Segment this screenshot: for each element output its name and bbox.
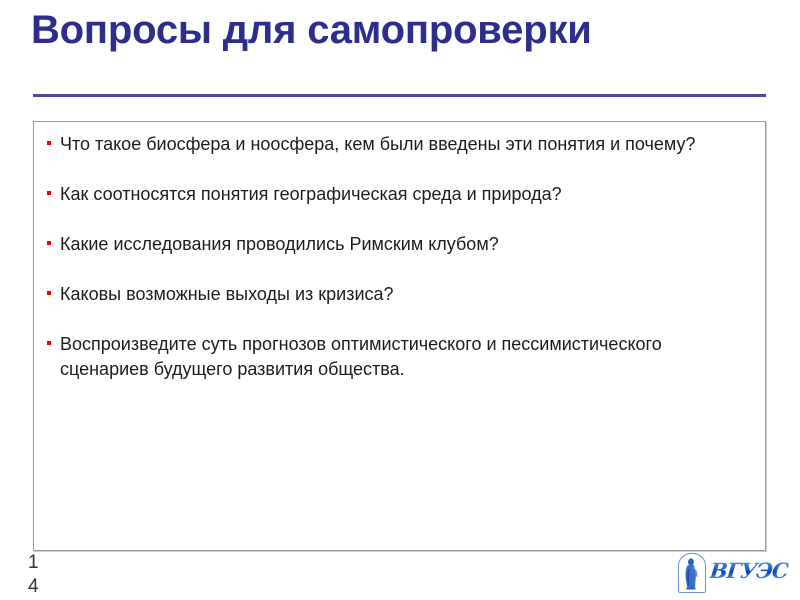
statue-emblem-icon xyxy=(678,553,706,593)
list-item: Воспроизведите суть прогнозов оптимистич… xyxy=(38,332,753,382)
page-number: 14 xyxy=(28,551,42,599)
list-item-label: Воспроизведите суть прогнозов оптимистич… xyxy=(60,332,753,382)
list-item: Каковы возможные выходы из кризиса? xyxy=(38,282,753,307)
slide: Вопросы для самопроверки Что такое биосф… xyxy=(0,0,800,600)
list-item-label: Какие исследования проводились Римским к… xyxy=(60,232,753,257)
vvsu-logo: ВГУЭС xyxy=(678,552,774,592)
title-divider xyxy=(33,94,766,97)
bullet-square-icon xyxy=(47,291,51,295)
bullet-square-icon xyxy=(47,241,51,245)
list-item-label: Как соотносятся понятия географическая с… xyxy=(60,182,753,207)
list-item: Как соотносятся понятия географическая с… xyxy=(38,182,753,207)
list-item-label: Каковы возможные выходы из кризиса? xyxy=(60,282,753,307)
bullet-square-icon xyxy=(47,141,51,145)
page-title: Вопросы для самопроверки xyxy=(31,6,751,54)
list-item: Что такое биосфера и ноосфера, кем были … xyxy=(38,132,753,157)
bullet-square-icon xyxy=(47,341,51,345)
list-item-label: Что такое биосфера и ноосфера, кем были … xyxy=(60,132,753,157)
logo-wordmark: ВГУЭС xyxy=(709,560,789,582)
list-item: Какие исследования проводились Римским к… xyxy=(38,232,753,257)
content-box: Что такое биосфера и ноосфера, кем были … xyxy=(33,121,766,551)
bullet-list: Что такое биосфера и ноосфера, кем были … xyxy=(38,132,753,382)
bullet-square-icon xyxy=(47,191,51,195)
